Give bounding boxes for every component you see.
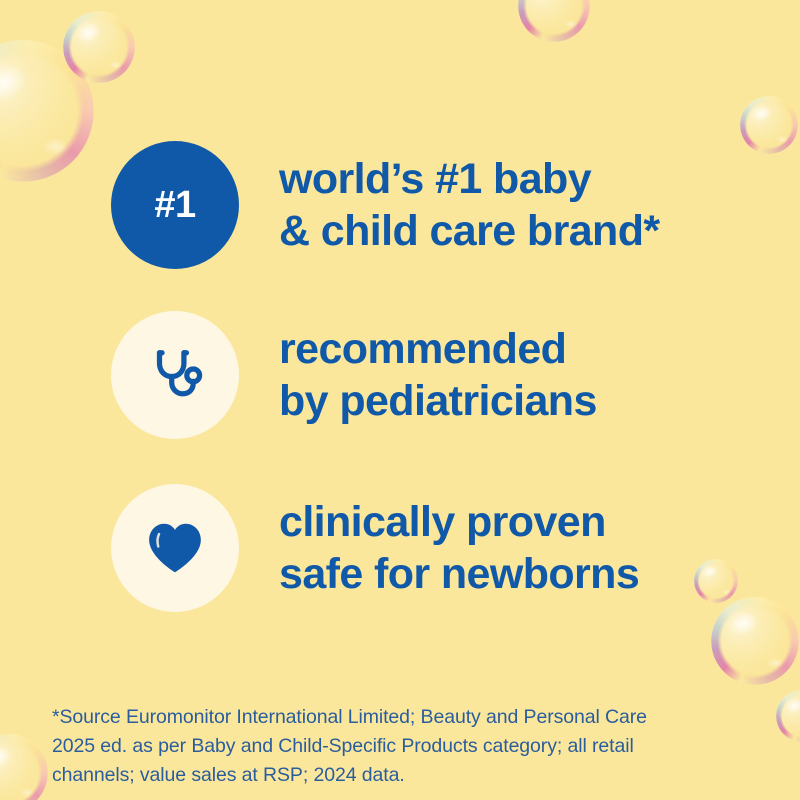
bubble-bottom-right-edge [776,690,800,742]
bubble-shell [0,40,94,182]
bubble-bottom-right-large [711,597,799,685]
feature-badge-newborns [111,484,239,612]
bubble-iridescent-rim [518,0,590,42]
bubble-shell [694,559,738,603]
bubble-shell [740,96,798,154]
bubble-iridescent-rim [776,690,800,742]
bubble-highlight [785,696,800,715]
feature-row-number-one: #1world’s #1 baby & child care brand* [111,141,660,269]
bubble-shell [776,690,800,742]
bubble-shell [711,597,799,685]
bubble-iridescent-rim [711,597,799,685]
feature-headline-newborns: clinically proven safe for newborns [279,496,639,600]
bubble-iridescent-rim [740,96,798,154]
bubble-highlight-secondary [20,788,34,797]
bubble-shell [63,11,135,83]
bubble-iridescent-rim [694,559,738,603]
feature-row-newborns: clinically proven safe for newborns [111,484,639,612]
bubble-highlight [725,607,761,639]
bubble-shell [518,0,590,42]
feature-row-pediatricians: recommended by pediatricians [111,311,597,439]
bubble-highlight-secondary [564,20,577,29]
feature-badge-number-one: #1 [111,141,239,269]
rank-badge-label: #1 [154,186,195,224]
bubble-bottom-left [0,734,48,800]
bubble-highlight [0,743,15,772]
promo-canvas: #1world’s #1 baby & child care brand*rec… [0,0,800,800]
bubble-highlight [75,19,105,46]
bubble-highlight [530,0,560,5]
source-footnote: *Source Euromonitor International Limite… [52,703,752,790]
bubble-top-right [740,96,798,154]
bubble-iridescent-rim [0,40,94,182]
bubble-iridescent-rim [0,734,48,800]
bubble-top-left-large [0,40,94,182]
bubble-highlight [749,103,773,124]
bubble-top-center [518,0,590,42]
feature-headline-number-one: world’s #1 baby & child care brand* [279,153,660,257]
bubble-highlight-secondary [767,658,783,669]
bubble-highlight-secondary [777,136,787,143]
heart-icon [146,521,204,575]
bubble-iridescent-rim [63,11,135,83]
bubble-highlight [0,56,34,108]
bubble-highlight-secondary [109,61,122,70]
bubble-shell [0,734,48,800]
bubble-highlight [701,564,719,580]
bubble-top-left-small [63,11,135,83]
bubble-highlight-secondary [43,138,69,155]
feature-headline-pediatricians: recommended by pediatricians [279,323,597,427]
bubble-right-lower [694,559,738,603]
stethoscope-icon [144,344,206,406]
bubble-highlight-secondary [722,589,730,594]
feature-badge-pediatricians [111,311,239,439]
